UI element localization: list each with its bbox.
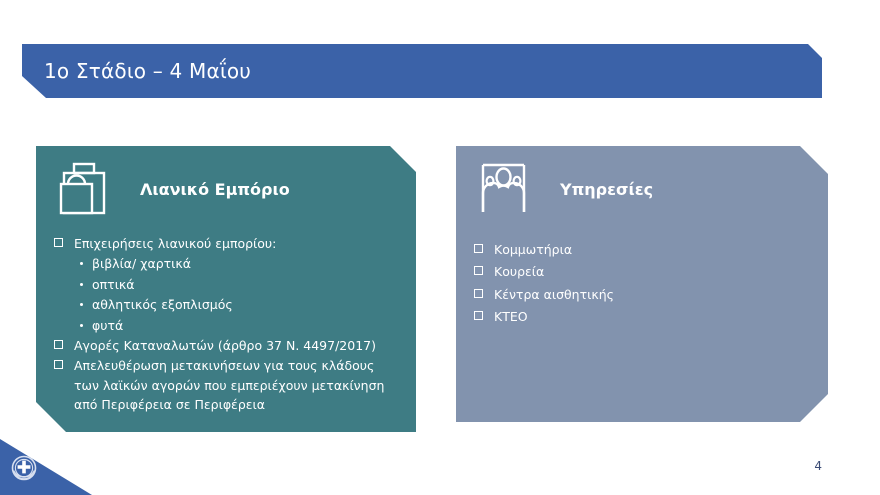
list-item: Απελευθέρωση μετακινήσεων για τους κλάδο… (54, 356, 400, 414)
card-retail-header: Λιανικό Εμπόριο (36, 146, 416, 218)
list-item: Επιχειρήσεις λιανικού εμπορίου: (54, 234, 400, 253)
list-item: Κουρεία (474, 262, 812, 281)
list-item: Κομμωτήρια (474, 240, 812, 259)
list-item-label: αθλητικός εξοπλισμός (92, 295, 400, 314)
list-item: ΚΤΕΟ (474, 307, 812, 326)
page-number: 4 (814, 459, 822, 473)
list-item-label: Αγορές Καταναλωτών (άρθρο 37 Ν. 4497/201… (74, 336, 400, 355)
card-retail-title: Λιανικό Εμπόριο (140, 180, 290, 199)
greek-government-emblem-icon (9, 453, 39, 483)
page-title: 1ο Στάδιο – 4 Μαΐου (22, 59, 251, 83)
list-item-label: Κέντρα αισθητικής (494, 285, 812, 304)
list-item: αθλητικός εξοπλισμός (54, 295, 400, 314)
dot-bullet-icon (80, 303, 83, 306)
square-bullet-icon (54, 238, 63, 247)
list-item-label: βιβλία/ χαρτικά (92, 254, 400, 273)
list-item-label: Απελευθέρωση μετακινήσεων για τους κλάδο… (74, 356, 400, 414)
list-item-label: Επιχειρήσεις λιανικού εμπορίου: (74, 234, 400, 253)
list-item-label: Κομμωτήρια (494, 240, 812, 259)
list-item: βιβλία/ χαρτικά (54, 254, 400, 273)
group-of-people-icon (478, 160, 538, 218)
dot-bullet-icon (80, 283, 83, 286)
card-retail: Λιανικό Εμπόριο Επιχειρήσεις λιανικού εμ… (36, 146, 416, 432)
square-bullet-icon (54, 360, 63, 369)
square-bullet-icon (54, 340, 63, 349)
list-item: Κέντρα αισθητικής (474, 285, 812, 304)
square-bullet-icon (474, 289, 483, 298)
dot-bullet-icon (80, 324, 83, 327)
footer-corner-shape (0, 439, 92, 495)
square-bullet-icon (474, 311, 483, 320)
card-services-title: Υπηρεσίες (560, 180, 653, 199)
shopping-bag-icon (58, 160, 118, 218)
slide-title-banner: 1ο Στάδιο – 4 Μαΐου (22, 44, 822, 98)
card-retail-body: Επιχειρήσεις λιανικού εμπορίου: βιβλία/ … (36, 218, 416, 414)
card-services-header: Υπηρεσίες (456, 146, 828, 218)
card-services: Υπηρεσίες Κομμωτήρια Κουρεία Κέντρα αισθ… (456, 146, 828, 422)
list-item-label: ΚΤΕΟ (494, 307, 812, 326)
square-bullet-icon (474, 244, 483, 253)
card-services-body: Κομμωτήρια Κουρεία Κέντρα αισθητικής ΚΤΕ… (456, 218, 828, 327)
list-item-label: φυτά (92, 316, 400, 335)
slide-canvas: 1ο Στάδιο – 4 Μαΐου Λιανικό Εμπόριο Επιχ… (0, 0, 880, 495)
list-item: φυτά (54, 316, 400, 335)
list-item-label: οπτικά (92, 275, 400, 294)
list-item-label: Κουρεία (494, 262, 812, 281)
list-item: Αγορές Καταναλωτών (άρθρο 37 Ν. 4497/201… (54, 336, 400, 355)
list-item: οπτικά (54, 275, 400, 294)
square-bullet-icon (474, 266, 483, 275)
dot-bullet-icon (80, 262, 83, 265)
